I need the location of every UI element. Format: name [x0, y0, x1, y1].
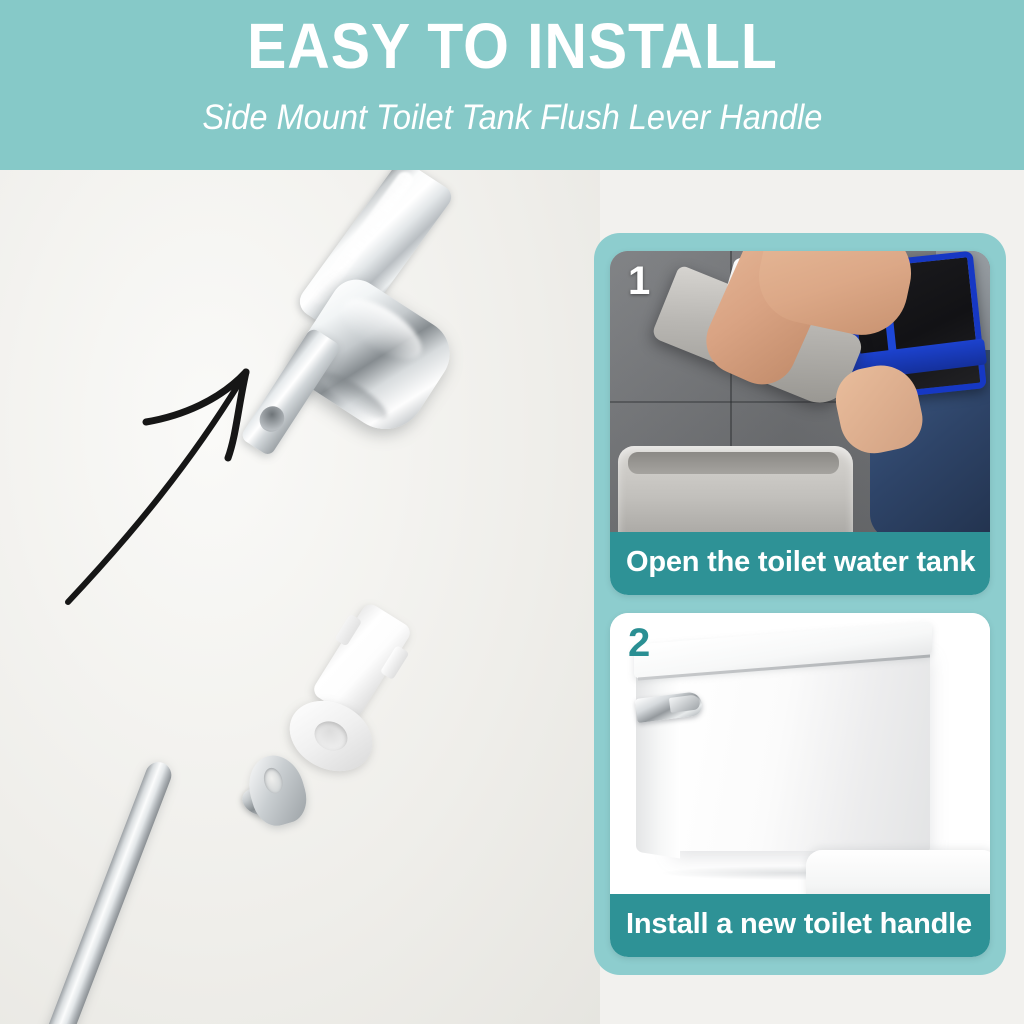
- assembly-direction-arrow-icon: [60, 350, 310, 610]
- page-title: EASY TO INSTALL: [247, 14, 778, 78]
- header-banner: EASY TO INSTALL Side Mount Toilet Tank F…: [0, 0, 1024, 170]
- toilet-tank-body: [672, 651, 930, 851]
- step-card-1[interactable]: 1 Open the toilet water tank: [610, 251, 990, 595]
- lift-arm-elbow: [241, 749, 312, 831]
- step-1-number-badge: 1: [628, 261, 650, 301]
- step-2-photo: 2: [610, 613, 990, 894]
- step-1-caption: Open the toilet water tank: [610, 532, 990, 595]
- product-photo-stage: [0, 170, 600, 1024]
- step-card-2[interactable]: 2 Install a new toilet handle: [610, 613, 990, 957]
- toilet-tank-left-face: [636, 656, 680, 859]
- scene-plumber-opening-tank: [610, 251, 990, 532]
- toilet-tank-open: [618, 446, 853, 532]
- infographic-root: EASY TO INSTALL Side Mount Toilet Tank F…: [0, 0, 1024, 1024]
- installation-steps-panel: 1 Open the toilet water tank 2 Install a…: [594, 233, 1006, 975]
- step-2-caption: Install a new toilet handle: [610, 894, 990, 957]
- toilet-seat-edge: [806, 850, 990, 894]
- metal-lift-arm: [0, 755, 310, 1024]
- scene-toilet-tank-with-handle: [610, 613, 990, 894]
- page-subtitle: Side Mount Toilet Tank Flush Lever Handl…: [202, 98, 822, 138]
- step-1-photo: 1: [610, 251, 990, 532]
- step-2-number-badge: 2: [628, 623, 650, 663]
- lift-arm-rod: [8, 758, 176, 1024]
